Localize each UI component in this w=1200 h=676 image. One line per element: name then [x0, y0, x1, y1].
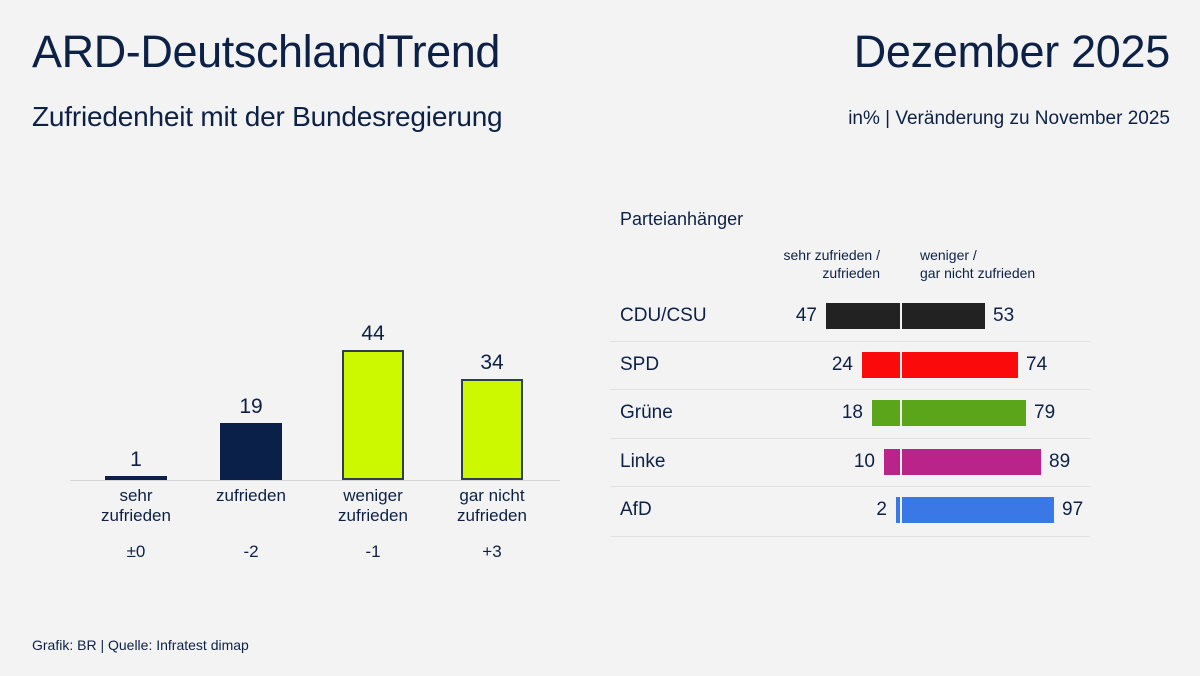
- source-credit: Grafik: BR | Quelle: Infratest dimap: [32, 636, 249, 654]
- bar-label: sehr zufrieden: [76, 486, 196, 526]
- bar-group-sehr-zufrieden: 1 sehr zufrieden ±0: [76, 180, 196, 580]
- value-satisfied: 47: [796, 305, 817, 327]
- value-dissatisfied: 53: [993, 305, 1014, 327]
- bar-delta: -1: [313, 542, 433, 562]
- value-dissatisfied: 74: [1026, 354, 1047, 376]
- party-label: Linke: [620, 451, 665, 473]
- bar-delta: ±0: [76, 542, 196, 562]
- bar-segment-satisfied: [862, 352, 900, 378]
- bar-segment-satisfied: [896, 497, 900, 523]
- bar-group-zufrieden: 19 zufrieden -2: [191, 180, 311, 580]
- bar-value: 34: [432, 351, 552, 375]
- table-row: CDU/CSU 47 53: [600, 292, 1200, 341]
- bar-group-gar-nicht-zufrieden: 34 gar nicht zufrieden +3: [432, 180, 552, 580]
- party-label: Grüne: [620, 402, 673, 424]
- value-dissatisfied: 89: [1049, 451, 1070, 473]
- table-row: Linke 10 89: [600, 438, 1200, 487]
- bar-segment-dissatisfied: [902, 449, 1041, 475]
- bar-rect: [342, 350, 404, 480]
- bar-rect: [220, 423, 282, 480]
- party-supporters-panel: Parteianhänger sehr zufrieden / zufriede…: [600, 180, 1200, 560]
- party-label: SPD: [620, 354, 659, 376]
- value-satisfied: 24: [832, 354, 853, 376]
- bar-segment-dissatisfied: [902, 352, 1018, 378]
- bar-group-weniger-zufrieden: 44 weniger zufrieden -1: [313, 180, 433, 580]
- bar-segment-satisfied: [826, 303, 900, 329]
- bar-delta: +3: [432, 542, 552, 562]
- bar-segment-dissatisfied: [902, 303, 985, 329]
- bar-delta: -2: [191, 542, 311, 562]
- infographic-page: ARD-DeutschlandTrend Zufriedenheit mit d…: [0, 0, 1200, 676]
- bar-rect: [105, 476, 167, 480]
- party-rows: CDU/CSU 47 53 SPD 24 74 Grüne: [600, 292, 1200, 536]
- value-satisfied: 10: [854, 451, 875, 473]
- bar-segment-dissatisfied: [902, 400, 1026, 426]
- bar-rect: [461, 379, 523, 480]
- page-subtitle: Zufriedenheit mit der Bundesregierung: [32, 100, 502, 134]
- bar-label: weniger zufrieden: [313, 486, 433, 526]
- panel-title: Parteianhänger: [620, 208, 743, 230]
- column-header-satisfied: sehr zufrieden / zufrieden: [700, 246, 880, 282]
- survey-period: Dezember 2025: [854, 26, 1170, 78]
- bar-segment-dissatisfied: [902, 497, 1054, 523]
- bar-label: zufrieden: [191, 486, 311, 506]
- value-satisfied: 2: [876, 499, 887, 521]
- value-satisfied: 18: [842, 402, 863, 424]
- page-title: ARD-DeutschlandTrend: [32, 26, 500, 78]
- table-row: AfD 2 97: [600, 486, 1200, 536]
- bar-value: 19: [191, 395, 311, 419]
- bar-value: 1: [76, 448, 196, 472]
- bar-label: gar nicht zufrieden: [432, 486, 552, 526]
- value-dissatisfied: 97: [1062, 499, 1083, 521]
- party-label: AfD: [620, 499, 652, 521]
- bar-segment-satisfied: [872, 400, 900, 426]
- bar-value: 44: [313, 322, 433, 346]
- party-label: CDU/CSU: [620, 305, 707, 327]
- column-header-dissatisfied: weniger / gar nicht zufrieden: [920, 246, 1150, 282]
- header: ARD-DeutschlandTrend Zufriedenheit mit d…: [0, 0, 1200, 150]
- survey-note: in% | Veränderung zu November 2025: [848, 106, 1170, 132]
- value-dissatisfied: 79: [1034, 402, 1055, 424]
- table-row: Grüne 18 79: [600, 389, 1200, 438]
- table-row: SPD 24 74: [600, 341, 1200, 390]
- satisfaction-bar-chart: 1 sehr zufrieden ±0 19 zufrieden -2 44 w…: [0, 180, 600, 580]
- bar-segment-satisfied: [884, 449, 900, 475]
